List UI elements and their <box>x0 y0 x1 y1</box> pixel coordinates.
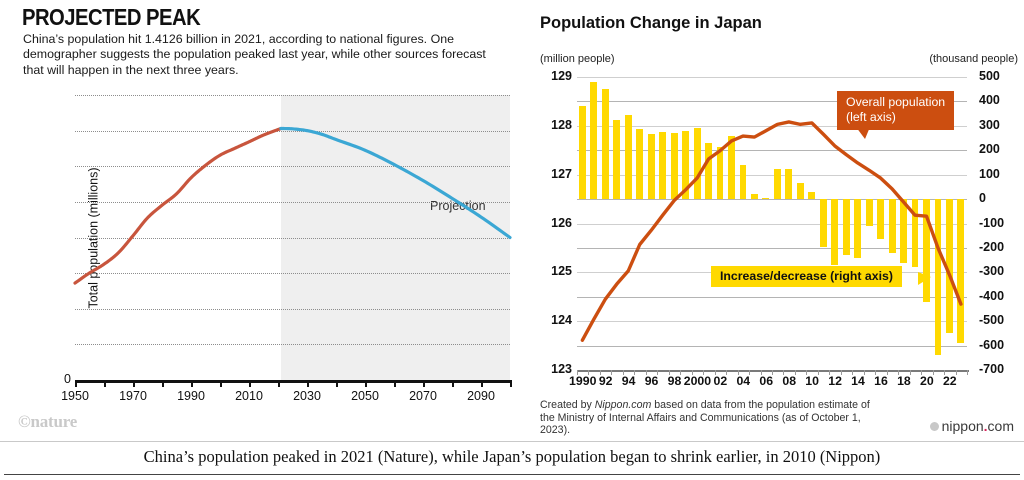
caption-rule-top <box>0 441 1024 442</box>
china-x-tick <box>133 380 135 387</box>
nippon-logo-com: com <box>988 418 1014 434</box>
japan-right-tick-label: 400 <box>979 93 1024 107</box>
japan-source-note: Created by Nippon.com based on data from… <box>540 399 870 437</box>
callout-overall-population: Overall population (left axis) <box>837 91 954 130</box>
callout-overall-pointer-icon <box>856 127 870 139</box>
nippon-logo: nippon.com <box>930 418 1014 434</box>
china-projection-line <box>281 128 510 237</box>
japan-right-tick-label: -500 <box>979 313 1024 327</box>
japan-overall-population-line <box>582 122 961 340</box>
china-x-tick <box>510 380 512 387</box>
china-x-tick <box>452 380 454 387</box>
china-x-tick <box>75 380 77 387</box>
source-text-c: based on data from the population <box>651 399 815 411</box>
callout-increase-decrease-pointer-icon <box>918 272 931 285</box>
callout-increase-decrease: Increase/decrease (right axis) <box>711 266 902 287</box>
japan-left-tick-label: 125 <box>532 264 572 278</box>
china-x-tick-label: 2030 <box>277 389 337 403</box>
china-x-tick <box>365 380 367 387</box>
source-nippon-com: Nippon.com <box>595 399 652 411</box>
china-x-tick-label: 2010 <box>219 389 279 403</box>
japan-right-tick-label: -600 <box>979 338 1024 352</box>
china-x-tick <box>220 380 222 387</box>
japan-right-tick-label: -400 <box>979 289 1024 303</box>
japan-right-tick-label: -200 <box>979 240 1024 254</box>
china-x-tick-label: 1950 <box>45 389 105 403</box>
nippon-logo-dot-icon <box>930 422 939 431</box>
china-x-axis <box>75 380 512 383</box>
japan-right-tick-label: 300 <box>979 118 1024 132</box>
china-x-tick <box>162 380 164 387</box>
japan-right-tick-label: -700 <box>979 362 1024 376</box>
japan-left-tick-label: 128 <box>532 118 572 132</box>
figure-caption: China’s population peaked in 2021 (Natur… <box>0 447 1024 467</box>
japan-right-tick-label: -300 <box>979 264 1024 278</box>
china-x-tick <box>191 380 193 387</box>
nature-panel: PROJECTED PEAK China’s population hit 1.… <box>0 0 527 440</box>
china-x-tick <box>249 380 251 387</box>
japan-left-tick-label: 124 <box>532 313 572 327</box>
japan-right-tick-label: 200 <box>979 142 1024 156</box>
nippon-logo-name: nippon <box>942 418 984 434</box>
japan-left-unit-label: (million people) <box>540 53 615 65</box>
japan-right-unit-label: (thousand people) <box>929 53 1018 65</box>
china-x-tick-label: 2050 <box>335 389 395 403</box>
china-x-tick-label: 1990 <box>161 389 221 403</box>
china-x-tick-label: 1970 <box>103 389 163 403</box>
china-x-tick-label: 2090 <box>451 389 511 403</box>
china-x-tick <box>394 380 396 387</box>
nippon-panel: Population Change in Japan (million peop… <box>527 0 1024 440</box>
china-x-tick <box>336 380 338 387</box>
japan-right-tick-label: 500 <box>979 69 1024 83</box>
japan-right-tick-label: -100 <box>979 216 1024 230</box>
callout-overall-line1: Overall population <box>846 95 945 110</box>
china-x-tick <box>481 380 483 387</box>
china-population-chart: Projection Total population (millions) 2… <box>75 95 510 380</box>
china-zero-label: 0 <box>47 372 71 386</box>
china-x-tick <box>104 380 106 387</box>
callout-overall-line2: (left axis) <box>846 110 945 125</box>
china-historical-line <box>75 128 281 283</box>
china-population-lines <box>75 95 510 380</box>
nature-standfirst: China’s population hit 1.4126 billion in… <box>23 32 493 78</box>
nature-title: PROJECTED PEAK <box>22 4 200 31</box>
china-x-tick-label: 2070 <box>393 389 453 403</box>
china-x-tick <box>307 380 309 387</box>
china-x-tick <box>278 380 280 387</box>
nature-logo: ©nature <box>18 412 77 432</box>
source-text-a: Created by <box>540 399 595 411</box>
japan-right-tick-label: 100 <box>979 167 1024 181</box>
japan-left-tick-label: 129 <box>532 69 572 83</box>
japan-right-tick-label: 0 <box>979 191 1024 205</box>
japan-left-tick-label: 126 <box>532 216 572 230</box>
infographic-root: PROJECTED PEAK China’s population hit 1.… <box>0 0 1024 480</box>
caption-rule-bottom <box>4 474 1020 475</box>
japan-x-tick-label: 22 <box>927 374 973 388</box>
japan-chart-title: Population Change in Japan <box>540 14 762 33</box>
japan-left-tick-label: 127 <box>532 167 572 181</box>
china-x-tick <box>423 380 425 387</box>
